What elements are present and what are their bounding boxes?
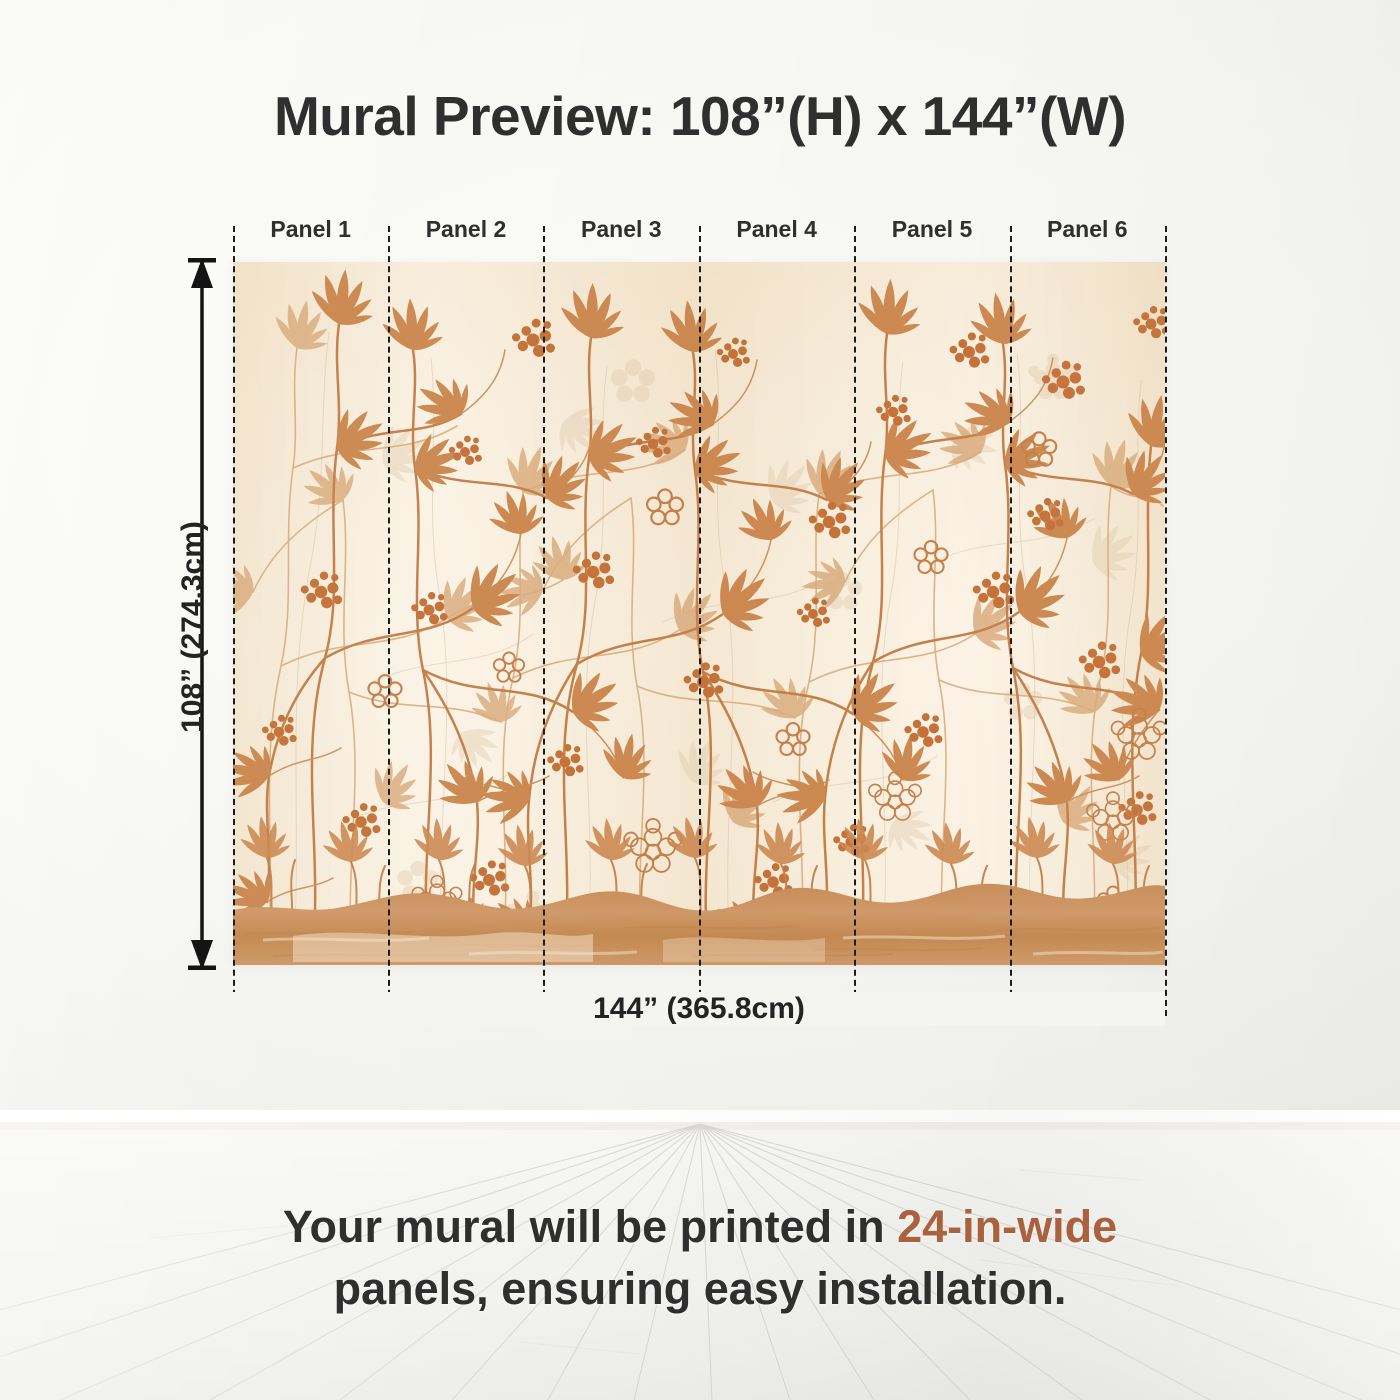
panel-divider-0 [233,226,235,1016]
panel-divider-3 [699,226,701,1016]
height-dimension-label: 108” (274.3cm) [176,521,210,733]
panel-label-1: Panel 1 [233,212,388,246]
panel-label-3: Panel 3 [544,212,699,246]
panel-divider-2 [543,226,545,1016]
caption-line2: panels, ensuring easy installation. [0,1258,1400,1320]
width-dimension-label-wrap: 144” (365.8cm) [233,992,1165,1026]
panel-divider-1 [388,226,390,1016]
page-title: Mural Preview: 108”(H) x 144”(W) [0,84,1400,148]
width-dimension-label: 144” (365.8cm) [571,992,827,1025]
panel-label-2: Panel 2 [388,212,543,246]
height-dimension-label-box: 108” (274.3cm) [172,497,214,757]
caption-text: Your mural will be printed in 24-in-wide… [0,1196,1400,1320]
panel-divider-5 [1010,226,1012,1016]
caption-highlight: 24-in-wide [897,1201,1117,1252]
caption-line1-before: Your mural will be printed in [283,1201,897,1252]
panel-divider-4 [854,226,856,1016]
panel-label-4: Panel 4 [699,212,854,246]
mural-preview-graphic: Mural Preview: 108”(H) x 144”(W) Panel 1… [0,0,1400,1400]
panel-label-5: Panel 5 [854,212,1009,246]
panel-label-6: Panel 6 [1010,212,1165,246]
panel-divider-6 [1165,226,1167,1016]
